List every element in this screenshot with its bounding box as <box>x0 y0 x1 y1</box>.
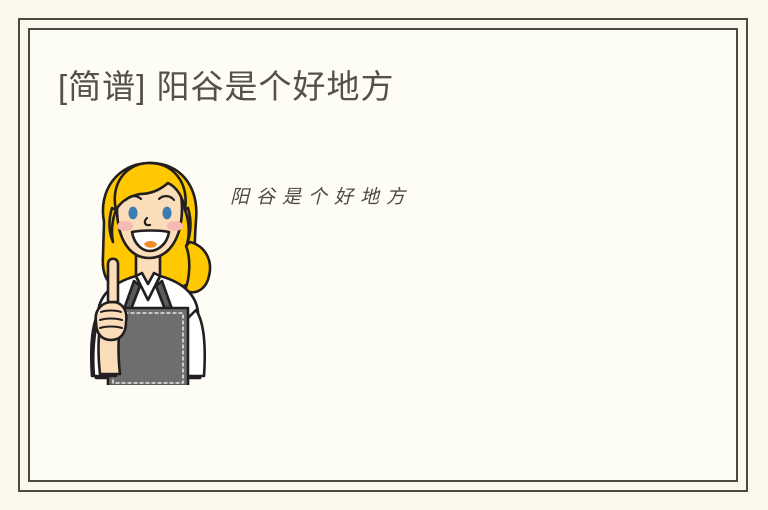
document-outer-frame: [简谱] 阳谷是个好地方 <box>18 18 748 492</box>
cheek-right <box>167 221 183 231</box>
eye-right <box>162 207 171 220</box>
document-inner-frame: [简谱] 阳谷是个好地方 <box>28 28 738 482</box>
index-finger-shape <box>108 259 118 302</box>
eye-left <box>128 207 137 220</box>
cheek-left <box>117 221 133 231</box>
cartoon-woman-pointing-up-illustration <box>68 150 228 385</box>
page-title: [简谱] 阳谷是个好地方 <box>58 67 395 107</box>
song-title-handwritten: 阳谷是个好地方 <box>230 182 412 209</box>
fist-shape <box>96 302 127 340</box>
ponytail-shape <box>185 242 210 292</box>
